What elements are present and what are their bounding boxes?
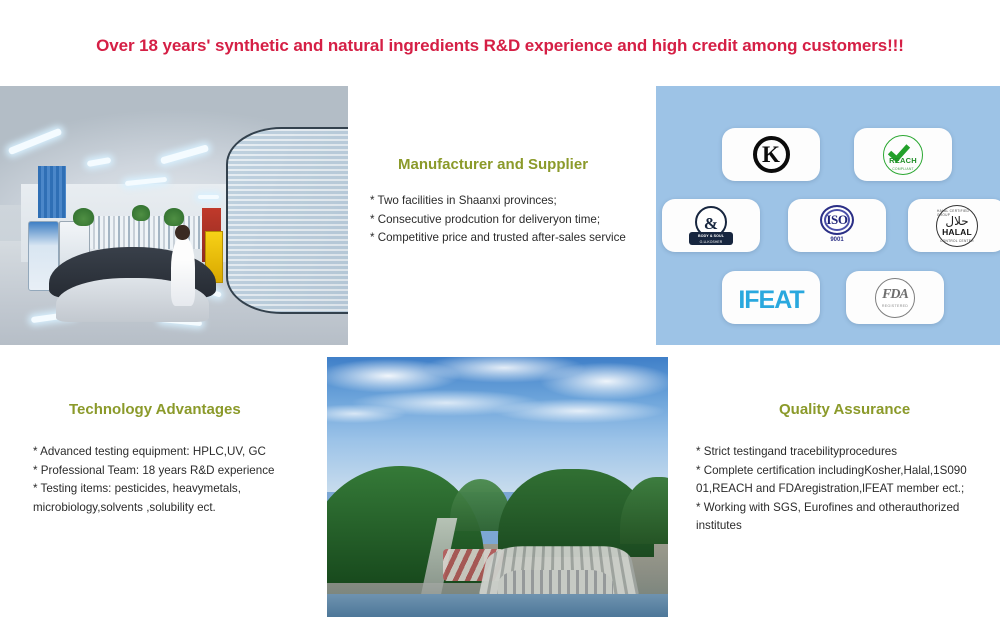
cert-card-kosher-body-soul[interactable]: & BODY & SOUL O-U-KOSHER REGISTERED xyxy=(662,199,760,252)
ceiling-light xyxy=(198,195,219,199)
iso-ring: ISO xyxy=(820,205,854,235)
manufacturer-title: Manufacturer and Supplier xyxy=(398,156,588,173)
halal-icon: HALAL CERTIFIED GROUP حلال HALAL CONTROL… xyxy=(936,205,978,247)
ifeat-label: IFEAT xyxy=(738,289,803,313)
kosher-body-soul-icon: & BODY & SOUL O-U-KOSHER REGISTERED xyxy=(689,206,733,246)
quality-line-3: 01,REACH and FDAregistration,lFEAT membe… xyxy=(696,480,996,499)
cert-card-halal[interactable]: HALAL CERTIFIED GROUP حلال HALAL CONTROL… xyxy=(908,199,1000,252)
cert-card-fda[interactable]: FDA REGISTERED xyxy=(846,271,944,324)
manufacturer-line-3: * Competitive price and trusted after-sa… xyxy=(370,229,650,248)
iso-icon: ISO 9001 xyxy=(812,205,862,247)
cert-card-ifeat[interactable]: IFEAT xyxy=(722,271,820,324)
kosher-k-icon: K xyxy=(753,136,790,173)
halal-ring-bottom: CONTROL CENTER xyxy=(940,239,974,243)
ampersand-glyph: & xyxy=(704,214,718,234)
manufacturer-line-2: * Consecutive prodcution for deliveryon … xyxy=(370,211,650,230)
halal-label: HALAL xyxy=(942,227,972,237)
potted-plant xyxy=(132,205,149,221)
technology-line-2: * Professional Team: 18 years R&D experi… xyxy=(33,462,323,481)
iso-number: 9001 xyxy=(830,237,843,243)
fda-sublabel: REGISTERED xyxy=(882,304,908,308)
glass-booth xyxy=(226,127,348,313)
manufacturer-line-1: * Two facilities in Shaanxi provinces; xyxy=(370,192,650,211)
ifeat-icon: IFEAT xyxy=(738,283,803,313)
reach-sublabel: COMPLIANT xyxy=(892,167,914,171)
technology-line-3: * Testing items: pesticides, heavymetals… xyxy=(33,480,323,499)
badge-band: BODY & SOUL O-U-KOSHER REGISTERED xyxy=(689,232,733,245)
technology-body: * Advanced testing equipment: HPLC,UV, G… xyxy=(33,443,323,517)
quality-body: * Strict testingand tracebilityprocedure… xyxy=(696,443,996,536)
halal-ring-top: HALAL CERTIFIED GROUP xyxy=(937,209,977,217)
technology-title: Technology Advantages xyxy=(69,401,241,418)
window-curtain xyxy=(38,166,66,218)
iso-label: ISO xyxy=(826,212,847,228)
fda-icon: FDA REGISTERED xyxy=(875,278,915,318)
certification-grid: K REACH COMPLIANT & BODY & SOUL O-U-KOSH… xyxy=(656,86,1000,345)
page-headline: Over 18 years' synthetic and natural ing… xyxy=(0,36,1000,56)
band-bottom-text: O-U-KOSHER REGISTERED xyxy=(699,240,722,250)
cert-card-iso[interactable]: ISO 9001 xyxy=(788,199,886,252)
band-top-text: BODY & SOUL xyxy=(689,233,733,239)
quality-line-1: * Strict testingand tracebilityprocedure… xyxy=(696,443,996,462)
certification-logos-panel: K REACH COMPLIANT & BODY & SOUL O-U-KOSH… xyxy=(656,86,1000,345)
manufacturer-body: * Two facilities in Shaanxi provinces; *… xyxy=(370,192,650,248)
aerial-town-panorama-image xyxy=(327,357,668,617)
technology-line-4: microbiology,solvents ,solubility ect. xyxy=(33,499,323,518)
quality-title: Quality Assurance xyxy=(779,401,910,418)
slide-canvas: Over 18 years' synthetic and natural ing… xyxy=(0,0,1000,641)
reach-icon: REACH COMPLIANT xyxy=(883,135,923,175)
technology-line-1: * Advanced testing equipment: HPLC,UV, G… xyxy=(33,443,323,462)
reach-label: REACH xyxy=(889,156,917,165)
potted-plant xyxy=(73,208,94,226)
quality-line-5: institutes xyxy=(696,517,996,536)
lab-technician xyxy=(171,236,195,306)
quality-line-2: * Complete certification includingKosher… xyxy=(696,462,996,481)
cert-card-kosher-k[interactable]: K xyxy=(722,128,820,181)
potted-plant xyxy=(164,208,185,226)
quality-line-4: * Working with SGS, Eurofines and othera… xyxy=(696,499,996,518)
cert-card-reach[interactable]: REACH COMPLIANT xyxy=(854,128,952,181)
laboratory-panorama-image xyxy=(0,86,348,345)
fda-label: FDA xyxy=(882,287,908,303)
river xyxy=(327,594,668,617)
